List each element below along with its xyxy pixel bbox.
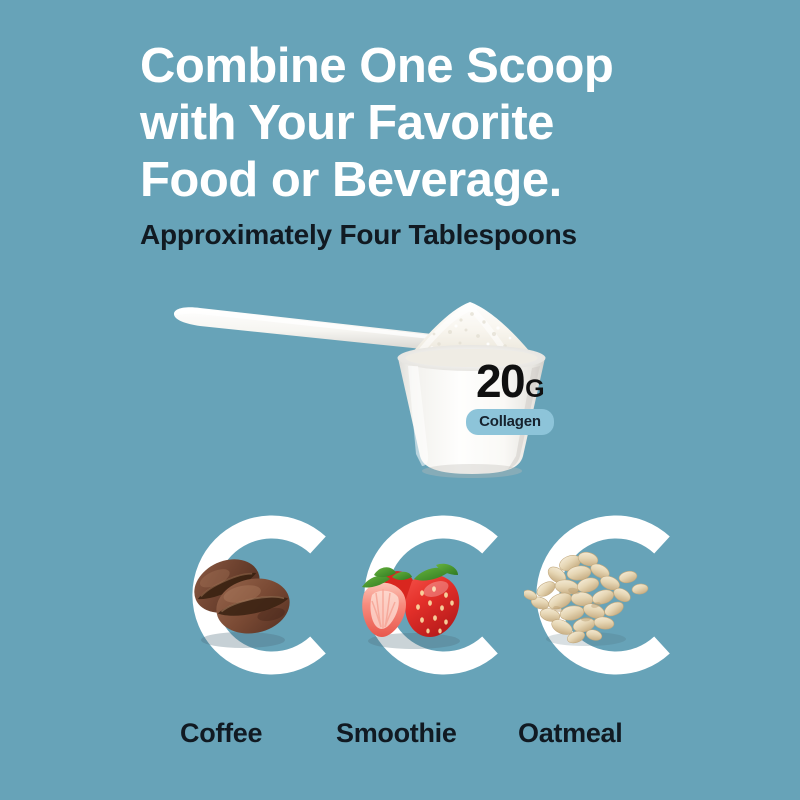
label-smoothie: Smoothie: [336, 718, 457, 749]
page-title: Combine One Scoop with Your Favorite Foo…: [140, 38, 700, 209]
headline-line-3: Food or Beverage.: [140, 152, 700, 209]
strawberries-icon: [352, 545, 474, 651]
subtitle: Approximately Four Tablespoons: [140, 219, 577, 251]
scoop-illustration: 20 G Collagen: [160, 288, 630, 483]
promo-poster: Combine One Scoop with Your Favorite Foo…: [0, 0, 800, 800]
headline-line-1: Combine One Scoop: [140, 38, 700, 95]
option-labels: Coffee Smoothie Oatmeal: [0, 718, 800, 762]
scoop-handle: [174, 307, 432, 350]
headline-line-2: with Your Favorite: [140, 95, 700, 152]
oat-flakes-icon: [524, 545, 650, 651]
coffee-beans-icon: [183, 548, 299, 650]
scoop-graphic: [160, 288, 630, 483]
label-oatmeal: Oatmeal: [518, 718, 622, 749]
label-coffee: Coffee: [180, 718, 262, 749]
scoop-cup: [398, 345, 546, 478]
